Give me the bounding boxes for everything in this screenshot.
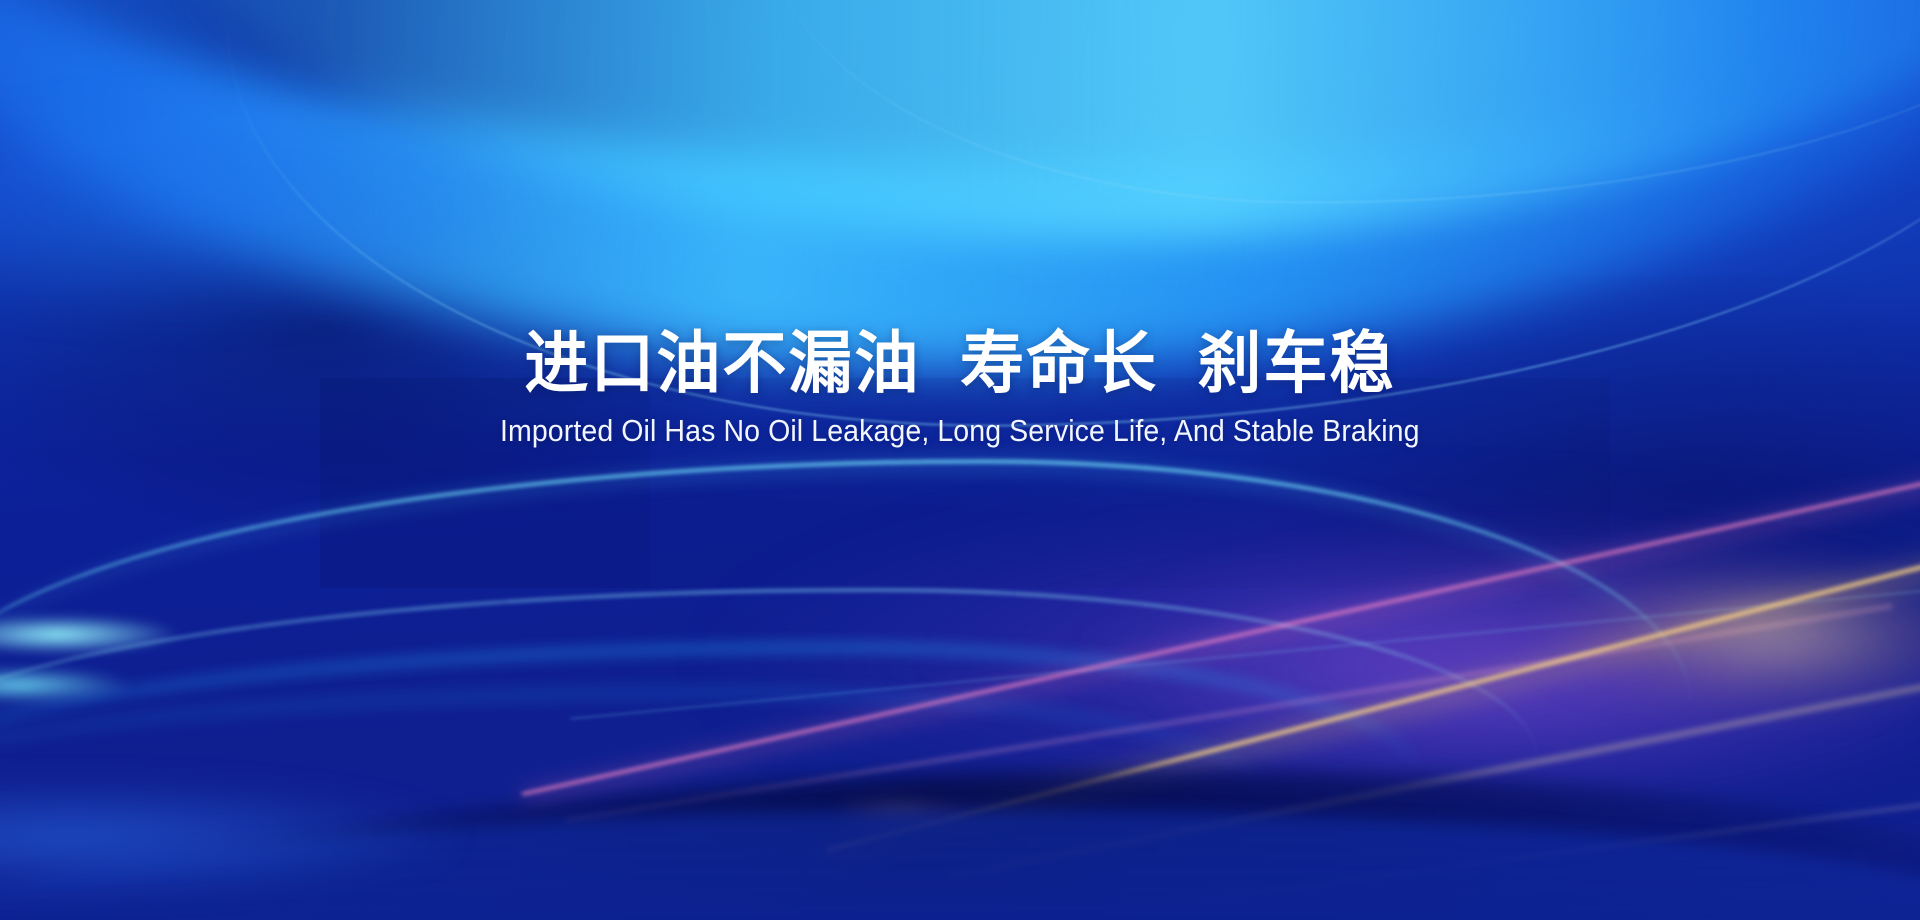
banner-headline: 进口油不漏油 寿命长 刹车稳 (524, 329, 1395, 397)
banner-text-block: 进口油不漏油 寿命长 刹车稳 Imported Oil Has No Oil L… (0, 0, 1920, 920)
promotional-banner: 进口油不漏油 寿命长 刹车稳 Imported Oil Has No Oil L… (0, 0, 1920, 920)
banner-subheadline: Imported Oil Has No Oil Leakage, Long Se… (500, 415, 1420, 446)
